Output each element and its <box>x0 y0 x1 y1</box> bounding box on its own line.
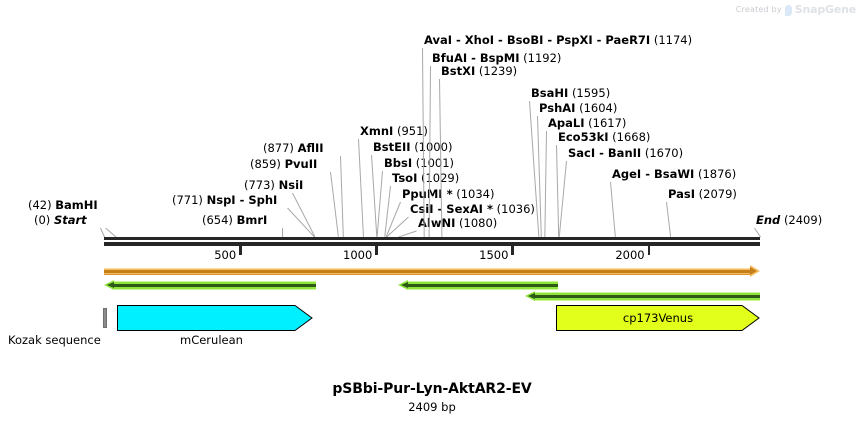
terminal-position: (0) <box>34 213 50 227</box>
site-enzymes: AvaI - XhoI - BsoBI - PspXI - PaeR7I <box>424 33 650 47</box>
site-enzymes: BstXI <box>441 64 475 78</box>
site-enzymes: AgeI - BsaWI <box>612 167 694 181</box>
site-enzymes: PasI <box>668 187 695 201</box>
site-label-pasi[interactable]: PasI (2079) <box>668 188 737 200</box>
snapgene-watermark: Created by SnapGene <box>736 3 856 16</box>
site-label-pvuii[interactable]: (859) PvuII <box>250 158 317 170</box>
site-position: (877) <box>263 141 294 155</box>
site-leader-line <box>754 228 761 238</box>
site-label-nsii[interactable]: (773) NsiI <box>244 179 303 191</box>
site-enzymes: NspI - SphI <box>207 193 278 207</box>
primer-core <box>114 284 316 287</box>
watermark-brand: SnapGene <box>795 3 856 16</box>
feature-mcerulean[interactable] <box>117 305 313 331</box>
site-enzymes: NsiI <box>279 178 304 192</box>
site-enzymes: TsoI <box>392 171 417 185</box>
site-label-agei-bsawi[interactable]: AgeI - BsaWI (1876) <box>612 168 736 180</box>
ruler-tick-label: 500 <box>188 248 236 262</box>
site-label-bamhi[interactable]: (42) BamHI <box>28 199 98 211</box>
site-enzymes: PvuII <box>285 157 318 171</box>
snapgene-logo-icon <box>785 5 792 16</box>
site-label-eco53ki[interactable]: Eco53kI (1668) <box>558 131 650 143</box>
site-enzymes: BfuAI - BspMI <box>432 51 519 65</box>
feature-arrow-shape <box>556 305 760 331</box>
site-enzymes: BmrI <box>237 213 268 227</box>
site-label-saci-banii[interactable]: SacI - BanII (1670) <box>568 147 683 159</box>
ruler-tick-label: 1000 <box>324 248 372 262</box>
ruler-tick-label: 1500 <box>460 248 508 262</box>
site-leader-line <box>105 228 116 238</box>
primer-arrow-1[interactable] <box>104 281 316 290</box>
site-label-apali[interactable]: ApaLI (1617) <box>548 117 626 129</box>
site-position: (1036) <box>497 202 535 216</box>
site-enzymes: SacI - BanII <box>568 146 641 160</box>
orf-arrow-core <box>104 270 750 273</box>
site-leader-line <box>610 182 616 237</box>
site-position: (654) <box>202 213 233 227</box>
plasmid-linear-map: Created by SnapGene (42) BamHI (0) Start… <box>0 0 864 422</box>
ruler-tick <box>648 246 651 255</box>
feature-label-mcerulean: mCerulean <box>180 333 243 347</box>
site-leader-line <box>100 228 105 237</box>
site-position: (1239) <box>479 64 517 78</box>
site-position: (2079) <box>699 187 737 201</box>
site-leader-line <box>358 139 364 237</box>
site-enzymes: BamHI <box>55 198 97 212</box>
site-position: (1617) <box>588 116 626 130</box>
site-position: (1174) <box>654 33 692 47</box>
site-label-bstxi[interactable]: BstXI (1239) <box>441 65 517 77</box>
site-label-bsahi[interactable]: BsaHI (1595) <box>531 87 610 99</box>
site-leader-line <box>559 161 567 237</box>
primer-core <box>408 284 558 287</box>
primer-arrow-head-inner <box>107 282 114 288</box>
site-label-nspi-sphi[interactable]: (771) NspI - SphI <box>172 194 277 206</box>
site-label-pshai[interactable]: PshAI (1604) <box>539 102 617 114</box>
site-position: (1034) <box>456 187 494 201</box>
site-position: (1080) <box>459 216 497 230</box>
site-label-aflii[interactable]: (877) AflII <box>263 142 324 154</box>
ruler-tick-label: 2000 <box>597 248 645 262</box>
site-enzymes: PshAI <box>539 101 575 115</box>
site-leader-line <box>544 131 547 237</box>
site-leader-line <box>377 171 383 237</box>
site-position: (1000) <box>414 140 452 154</box>
terminal-name: Start <box>54 213 87 227</box>
primer-arrow-head-inner <box>401 282 408 288</box>
site-position: (42) <box>28 198 52 212</box>
orf-arrow-head-inner <box>750 267 757 275</box>
terminal-label-end[interactable]: End (2409) <box>756 214 822 226</box>
site-leader-line <box>340 156 344 237</box>
watermark-prefix: Created by <box>736 5 782 14</box>
primer-arrow-head-inner <box>528 293 535 299</box>
feature-arrow-shape <box>117 305 313 331</box>
ruler-tick <box>375 246 378 255</box>
site-enzymes: BbsI <box>384 156 412 170</box>
site-label-tsoi[interactable]: TsoI (1029) <box>392 172 459 184</box>
site-enzymes: Eco53kI <box>558 130 609 144</box>
sequence-backbone[interactable] <box>104 237 760 246</box>
kozak-sequence-marker[interactable] <box>103 308 107 328</box>
terminal-position: (2409) <box>784 213 822 227</box>
backbone-bottom-strand <box>104 242 760 246</box>
primer-core <box>535 295 760 298</box>
site-enzymes: PpuMI * <box>402 187 453 201</box>
site-leader-line <box>282 228 283 237</box>
site-position: (859) <box>250 157 281 171</box>
ruler-tick <box>511 246 514 255</box>
site-label-bmri[interactable]: (654) BmrI <box>202 214 267 226</box>
site-enzymes: BstEII <box>373 140 411 154</box>
plasmid-length: 2409 bp <box>0 400 864 414</box>
terminal-name: End <box>756 213 780 227</box>
site-position: (1668) <box>612 130 650 144</box>
ruler-tick <box>239 246 242 255</box>
terminal-label-start[interactable]: (0) Start <box>34 214 87 226</box>
feature-cp173venus[interactable]: cp173Venus <box>556 305 760 331</box>
title-block: pSBbi-Pur-Lyn-AktAR2-EV 2409 bp <box>0 381 864 414</box>
site-label-alwni[interactable]: AlwNI (1080) <box>418 217 497 229</box>
site-position: (1001) <box>416 156 454 170</box>
site-label-bfuai-bspmi[interactable]: BfuAI - BspMI (1192) <box>432 52 561 64</box>
site-label-avai-group[interactable]: AvaI - XhoI - BsoBI - PspXI - PaeR7I (11… <box>424 34 692 46</box>
site-enzymes: BsaHI <box>531 86 568 100</box>
site-leader-line <box>371 155 377 237</box>
site-leader-line <box>556 145 559 237</box>
backbone-top-strand <box>104 237 760 240</box>
orf-arrow[interactable] <box>104 268 760 275</box>
primer-arrow-2[interactable] <box>398 281 558 290</box>
site-position: (771) <box>172 193 203 207</box>
site-position: (1595) <box>572 86 610 100</box>
site-position: (1876) <box>698 167 736 181</box>
site-leader-line <box>666 202 671 237</box>
site-position: (1604) <box>579 101 617 115</box>
primer-arrow-3[interactable] <box>525 292 760 301</box>
site-label-bbsi[interactable]: BbsI (1001) <box>384 157 454 169</box>
site-position: (773) <box>244 178 275 192</box>
site-label-ppumi[interactable]: PpuMI * (1034) <box>402 188 495 200</box>
site-enzymes: ApaLI <box>548 116 585 130</box>
site-leader-line <box>330 172 339 237</box>
site-position: (1192) <box>523 51 561 65</box>
site-position: (1670) <box>645 146 683 160</box>
kozak-sequence-label: Kozak sequence <box>8 333 101 347</box>
plasmid-name: pSBbi-Pur-Lyn-AktAR2-EV <box>0 381 864 397</box>
site-label-xmni[interactable]: XmnI (951) <box>360 125 428 137</box>
site-enzymes: XmnI <box>360 124 393 138</box>
site-enzymes: AflII <box>298 141 324 155</box>
